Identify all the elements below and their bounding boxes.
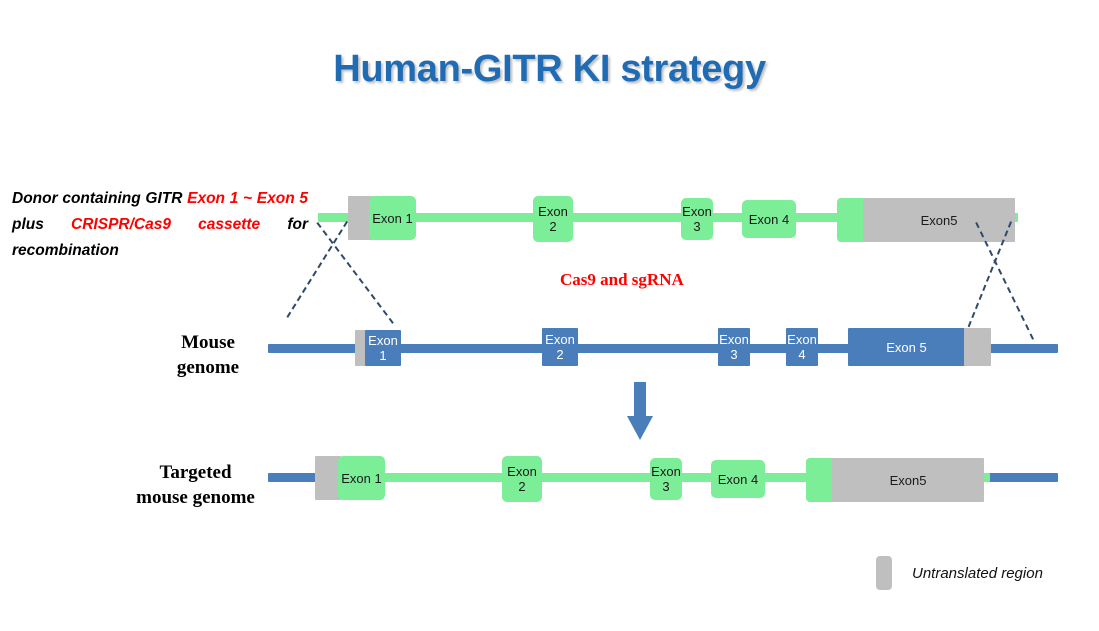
mouse-exon-1: Exon 1 <box>365 330 401 366</box>
targeted-exon-3: Exon 3 <box>650 458 682 500</box>
row-label-targeted-line1: Targeted <box>108 460 283 485</box>
targeted-exon-5: Exon5 <box>832 458 984 502</box>
arrow-shaft <box>634 382 646 418</box>
row-label-targeted-mouse-genome: Targeted mouse genome <box>108 460 283 510</box>
donor-exon-1: Exon 1 <box>369 196 416 240</box>
donor-exon-5: Exon5 <box>863 198 1015 242</box>
donor-exon-3: Exon 3 <box>681 198 713 240</box>
donor-exon-4: Exon 4 <box>742 200 796 238</box>
donor-exon-2: Exon 2 <box>533 196 573 242</box>
legend-swatch-untranslated-region <box>876 556 892 590</box>
donor-caption-part-1: Donor containing GITR <box>12 190 187 207</box>
row-label-targeted-line2: mouse genome <box>108 485 283 510</box>
donor-caption-exon-range: Exon 1 ~ Exon 5 <box>187 190 308 207</box>
targeted-exon-2: Exon 2 <box>502 456 542 502</box>
page-title: Human-GITR KI strategy <box>0 48 1099 91</box>
row-label-mouse-genome: Mouse genome <box>138 330 278 380</box>
mouse-exon-3: Exon 3 <box>718 328 750 366</box>
donor-caption-part-3: plus <box>12 216 71 233</box>
row-label-mouse-genome-line1: Mouse <box>138 330 278 355</box>
cas9-sgrna-label: Cas9 and sgRNA <box>560 270 684 290</box>
mouse-exon-4: Exon 4 <box>786 328 818 366</box>
row-label-mouse-genome-line2: genome <box>138 355 278 380</box>
targeted-exon-1: Exon 1 <box>338 456 385 500</box>
slide-canvas: Human-GITR KI strategy Donor containing … <box>0 0 1099 631</box>
arrow-head <box>627 416 653 440</box>
targeted-backbone-flank-left <box>268 473 320 482</box>
legend-label-untranslated-region: Untranslated region <box>912 565 1043 582</box>
donor-caption: Donor containing GITR Exon 1 ~ Exon 5 pl… <box>12 186 308 290</box>
legend: Untranslated region <box>876 556 1043 590</box>
targeted-backbone-flank-right <box>985 473 1058 482</box>
targeted-exon-4: Exon 4 <box>711 460 765 498</box>
mouse-exon-2: Exon 2 <box>542 328 578 366</box>
mouse-exon-5: Exon 5 <box>848 328 965 366</box>
process-arrow-down <box>627 382 653 440</box>
mouse-utr-3prime <box>964 328 991 366</box>
donor-caption-crispr-cassette: CRISPR/Cas9 cassette <box>71 216 260 233</box>
